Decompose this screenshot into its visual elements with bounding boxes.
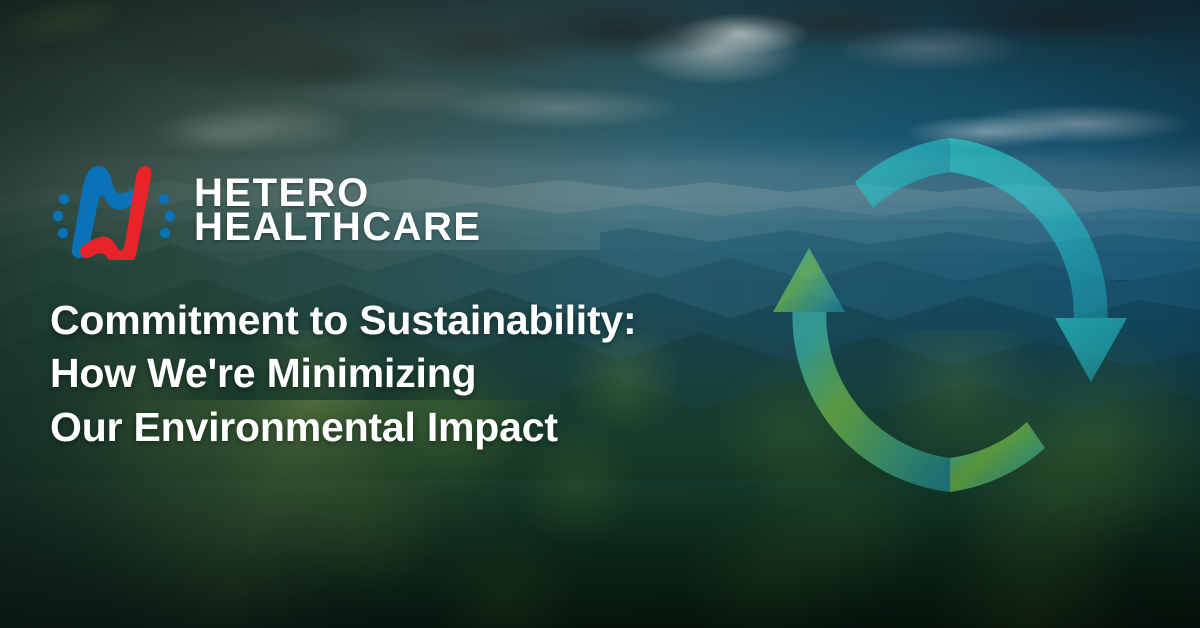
page-title: Commitment to Sustainability: How We're … [50,294,810,454]
sustainability-hero-banner: HETERO HEALTHCARE Commitment to Sustaina… [0,0,1200,628]
logo-dot [165,211,175,221]
headline-line-2: How We're Minimizing [50,347,810,400]
logo-dot [159,194,169,204]
logo-dot [59,194,69,204]
headline-line-3: Our Environmental Impact [50,401,810,454]
hetero-healthcare-logo[interactable]: HETERO HEALTHCARE [50,160,810,260]
banner-content: HETERO HEALTHCARE Commitment to Sustaina… [50,160,810,481]
logo-dot [53,211,63,221]
hetero-h-monogram-icon [50,160,178,260]
logo-dot [58,228,68,238]
brand-wordmark: HETERO HEALTHCARE [194,176,482,245]
wordmark-line-healthcare: HEALTHCARE [194,210,482,244]
logo-dot [160,228,170,238]
headline-line-1: Commitment to Sustainability: [50,294,810,347]
